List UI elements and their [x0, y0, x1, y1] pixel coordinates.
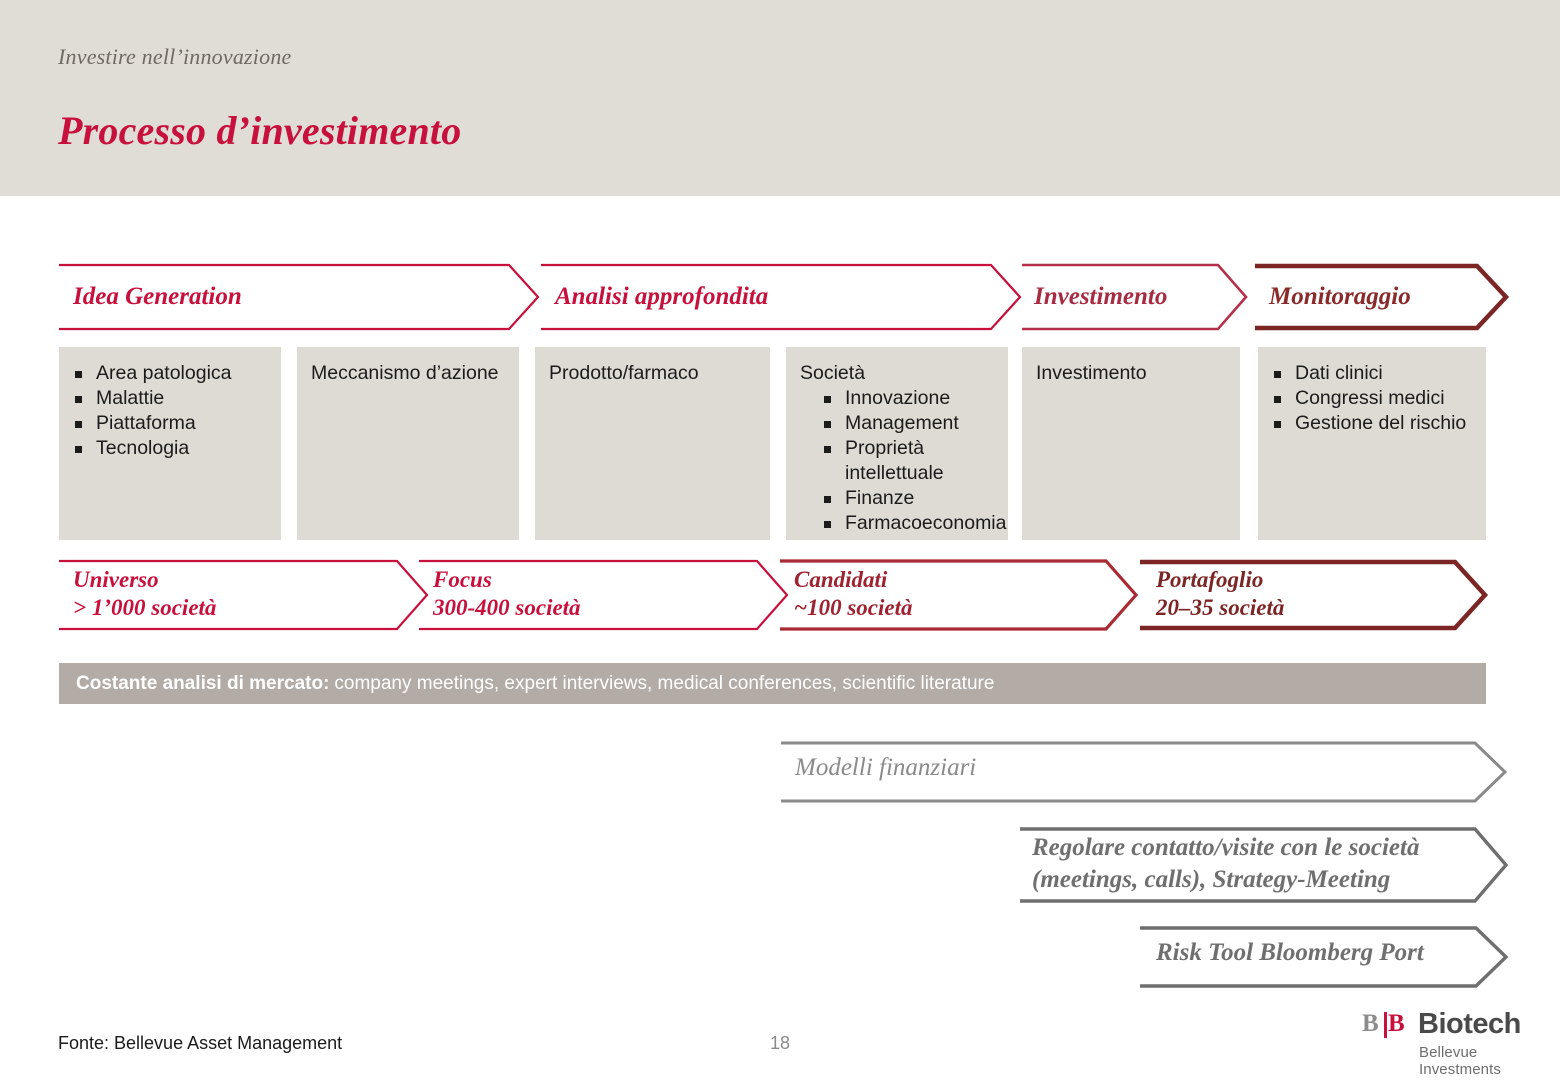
stage-chevron-portafoglio: Portafoglio 20–35 società [1140, 559, 1488, 631]
content-box-idea-areas: Area patologica Malattie Piattaforma Tec… [59, 347, 281, 540]
page-number: 18 [770, 1033, 790, 1054]
grey-bar-label-line2: (meetings, calls), Strategy-Meeting [1032, 866, 1390, 894]
list-item: Management [822, 411, 996, 436]
phase-label: Analisi approfondita [555, 283, 768, 311]
list-item: Area patologica [73, 361, 269, 386]
grey-bar-label: Regolare contatto/visite con le società [1032, 834, 1419, 862]
logo-wordmark: Biotech [1418, 1008, 1521, 1041]
content-box-monitoraggio: Dati clinici Congressi medici Gestione d… [1258, 347, 1486, 540]
logo-subtitle: Bellevue Investments [1419, 1044, 1501, 1078]
stage-title: Focus [433, 567, 492, 593]
logo-divider-bar [1384, 1012, 1387, 1038]
list-item: Finanze [822, 486, 996, 511]
logo-mark-right: B [1388, 1010, 1405, 1038]
banner-text: company meetings, expert interviews, med… [334, 673, 994, 695]
list-item: Farmacoeconomia [822, 511, 996, 536]
content-box-societa: Società Innovazione Management Proprietà… [786, 347, 1008, 540]
content-box-meccanismo: Meccanismo d’azione [297, 347, 519, 540]
phase-chevron-idea-generation: Idea Generation [59, 263, 539, 331]
stage-chevron-candidati: Candidati ~100 società [780, 559, 1138, 631]
list-item: Piattaforma [73, 411, 269, 436]
source-note: Fonte: Bellevue Asset Management [58, 1033, 342, 1054]
stage-chevron-universo: Universo > 1’000 società [59, 559, 429, 631]
box-header: Meccanismo d’azione [311, 361, 507, 386]
phase-label: Idea Generation [73, 283, 242, 311]
list-item: Malattie [73, 386, 269, 411]
grey-chevron-risk-tool: Risk Tool Bloomberg Port [1140, 925, 1508, 989]
banner-label: Costante analisi di mercato: [76, 673, 329, 695]
stage-title: Candidati [794, 567, 887, 593]
phase-label: Investimento [1034, 283, 1167, 311]
content-box-prodotto: Prodotto/farmaco [535, 347, 770, 540]
box-header: Società [800, 361, 996, 386]
bullet-list: Innovazione Management Proprietà intelle… [800, 386, 996, 536]
stage-chevron-focus: Focus 300-400 società [419, 559, 789, 631]
page-title: Processo d’investimento [58, 107, 461, 154]
stage-detail: > 1’000 società [73, 595, 216, 621]
bullet-list: Area patologica Malattie Piattaforma Tec… [73, 361, 269, 461]
stage-detail: 300-400 società [433, 595, 581, 621]
logo-mark-left: B [1362, 1010, 1379, 1038]
stage-detail: ~100 società [794, 595, 913, 621]
box-header: Prodotto/farmaco [549, 361, 758, 386]
phase-chevron-monitoraggio: Monitoraggio [1255, 263, 1508, 331]
bullet-list: Dati clinici Congressi medici Gestione d… [1272, 361, 1474, 436]
list-item: Innovazione [822, 386, 996, 411]
slide-eyebrow: Investire nell’innovazione [58, 44, 291, 70]
grey-chevron-modelli-finanziari: Modelli finanziari [781, 740, 1507, 804]
list-item: Dati clinici [1272, 361, 1474, 386]
market-analysis-banner: Costante analisi di mercato: company mee… [59, 663, 1486, 704]
list-item: Proprietà intellettuale [822, 436, 996, 486]
phase-chevron-investimento: Investimento [1022, 263, 1247, 331]
stage-title: Universo [73, 567, 159, 593]
list-item: Congressi medici [1272, 386, 1474, 411]
box-header: Investimento [1036, 361, 1228, 386]
content-box-investimento: Investimento [1022, 347, 1240, 540]
stage-title: Portafoglio [1156, 567, 1263, 593]
stage-detail: 20–35 società [1156, 595, 1284, 621]
phase-label: Monitoraggio [1269, 283, 1411, 311]
grey-bar-label: Risk Tool Bloomberg Port [1156, 939, 1424, 967]
list-item: Tecnologia [73, 436, 269, 461]
grey-bar-label: Modelli finanziari [795, 754, 976, 782]
grey-chevron-contatto-societa: Regolare contatto/visite con le società … [1020, 826, 1508, 904]
header-band [0, 0, 1560, 196]
list-item: Gestione del rischio [1272, 411, 1474, 436]
phase-chevron-analisi-approfondita: Analisi approfondita [541, 263, 1021, 331]
